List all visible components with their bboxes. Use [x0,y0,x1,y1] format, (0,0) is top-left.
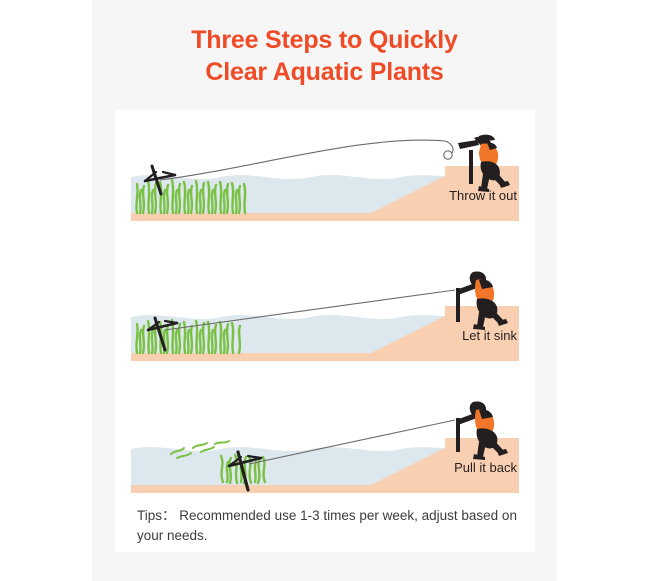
step-1-illustration: Throw it out [115,110,535,227]
tips-note: Tips： Recommended use 1-3 times per week… [137,506,519,547]
step-3-label: Pull it back [454,460,517,475]
step-panel-1: Throw it out [115,110,535,227]
step-3-illustration: Pull it back [115,382,535,499]
pole-handle [469,150,473,184]
tips-prefix: Tips： [137,508,176,523]
title-line-2: Clear Aquatic Plants [92,56,557,88]
rope-coil [444,151,452,159]
person-arm [458,140,479,149]
step-panel-3: Pull it back [115,382,535,499]
rope-line [160,140,445,180]
title-line-1: Three Steps to Quickly [92,24,557,56]
step-1-label: Throw it out [449,188,517,203]
steps-card: Throw it out [115,110,535,552]
person-cap [477,135,495,142]
step-panel-2: Let it sink [115,250,535,367]
infographic-page: Three Steps to Quickly Clear Aquatic Pla… [0,0,650,581]
step-2-label: Let it sink [462,328,517,343]
tips-text: Recommended use 1-3 times per week, adju… [137,508,517,543]
step-2-illustration: Let it sink [115,250,535,367]
page-title: Three Steps to Quickly Clear Aquatic Pla… [92,24,557,88]
